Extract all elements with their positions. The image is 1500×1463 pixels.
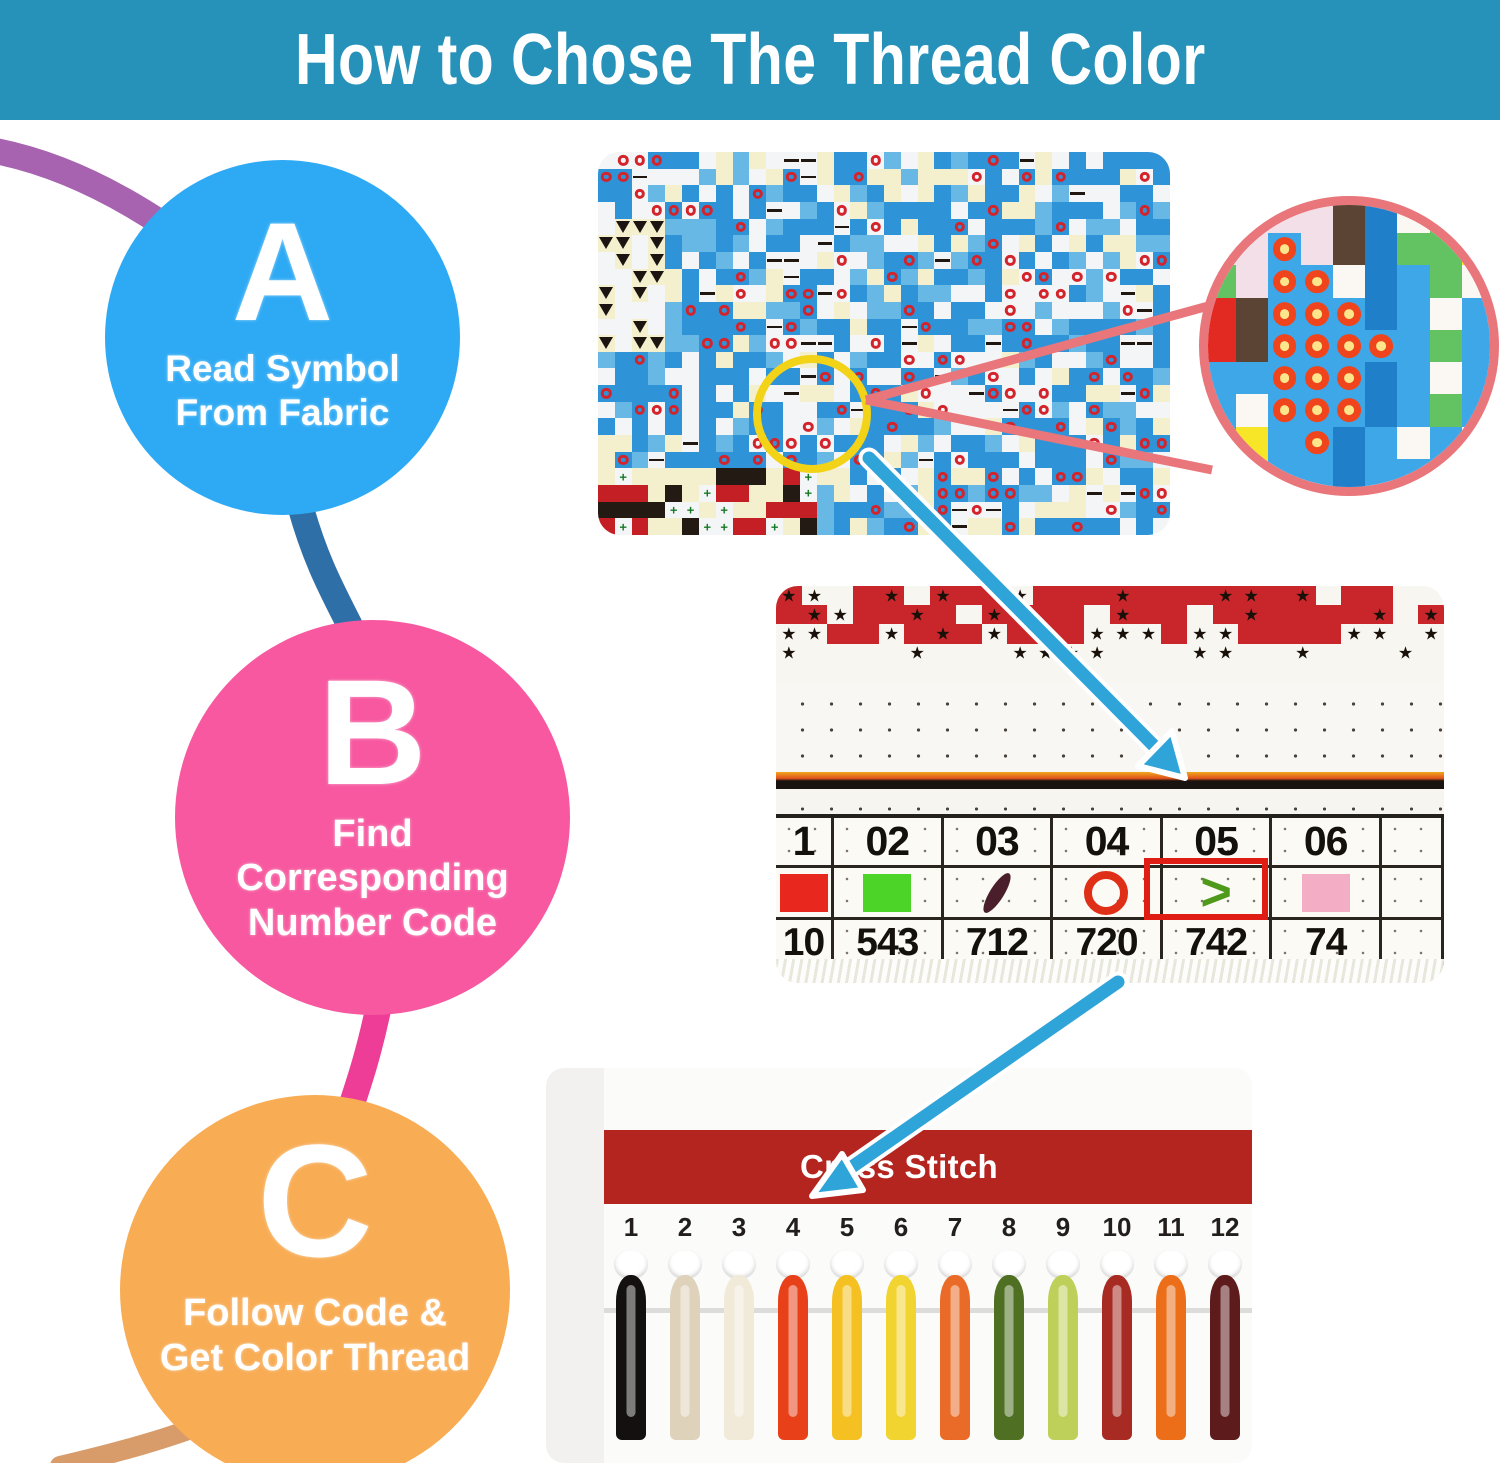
fabric-stitch-cell: [901, 269, 918, 286]
step-caption-c-line1: Follow Code &: [160, 1291, 470, 1336]
fabric-stitch-cell: [985, 169, 1002, 186]
fabric-stitch-cell: [682, 169, 699, 186]
thread-skein: [1210, 1275, 1240, 1440]
magnified-stitch-cell: [1462, 362, 1494, 394]
fabric-stitch-cell: [615, 418, 632, 435]
fabric-stitch-cell: [1120, 235, 1137, 252]
magnified-stitch-cell: [1462, 233, 1494, 265]
thread-column[interactable]: 6: [874, 1210, 928, 1463]
fabric-stitch-cell: [901, 452, 918, 469]
flag-stitch-cell: [1110, 586, 1136, 605]
magnified-stitch-cell: [1397, 394, 1429, 426]
flag-stitch-cell: [853, 644, 879, 663]
fabric-stitch-cell: [1019, 402, 1036, 419]
fabric-stitch-cell: [1153, 185, 1170, 202]
fabric-stitch-cell: [1035, 169, 1052, 186]
thread-skein: [616, 1275, 646, 1440]
fabric-stitch-cell: [1086, 302, 1103, 319]
fabric-stitch-cell: [884, 335, 901, 352]
fabric-stitch-cell: [1120, 402, 1137, 419]
fabric-stitch-cell: [901, 468, 918, 485]
fabric-stitch-cell: [850, 152, 867, 169]
fabric-stitch-cell: [632, 468, 649, 485]
fabric-stitch-cell: [1120, 518, 1137, 535]
fabric-stitch-cell: [934, 269, 951, 286]
fabric-stitch-cell: [884, 468, 901, 485]
thread-skein: [940, 1275, 970, 1440]
fabric-stitch-cell: [783, 185, 800, 202]
fabric-stitch-cell: [1120, 202, 1137, 219]
flag-stitch-cell: [1341, 605, 1367, 624]
magnified-stitch-cell: [1365, 427, 1397, 459]
flag-stitch-cell: [1213, 663, 1239, 682]
fabric-stitch-cell: [884, 235, 901, 252]
fabric-stitch-cell: [834, 269, 851, 286]
fabric-stitch-cell: [716, 502, 733, 519]
magnified-stitch-cell: [1365, 298, 1397, 330]
fabric-stitch-cell: [934, 385, 951, 402]
flag-stitch-cell: [1367, 644, 1393, 663]
fabric-stitch-cell: [716, 302, 733, 319]
fabric-stitch-cell: [783, 219, 800, 236]
fabric-stitch-cell: [951, 235, 968, 252]
fabric-stitch-cell: [665, 352, 682, 369]
fabric-stitch-cell: [716, 352, 733, 369]
fabric-stitch-cell: [766, 235, 783, 252]
flag-stitch-cell: [827, 644, 853, 663]
flag-stitch-cell: [1161, 586, 1187, 605]
fabric-stitch-cell: [749, 152, 766, 169]
magnified-stitch-cell: [1397, 233, 1429, 265]
fabric-stitch-cell: [1153, 518, 1170, 535]
fabric-stitch-cell: [800, 285, 817, 302]
fabric-stitch-cell: [766, 518, 783, 535]
fabric-stitch-cell: [850, 235, 867, 252]
fabric-stitch-cell: [716, 385, 733, 402]
fabric-stitch-cell: [850, 485, 867, 502]
thread-column[interactable]: 12: [1198, 1210, 1252, 1463]
fabric-stitch-cell: [783, 319, 800, 336]
flag-stitch-cell: [1059, 644, 1085, 663]
thread-skein: [1048, 1275, 1078, 1440]
fabric-stitch-cell: [1136, 235, 1153, 252]
fabric-stitch-cell: [1153, 452, 1170, 469]
fabric-stitch-cell: [615, 319, 632, 336]
fabric-stitch-cell: [834, 202, 851, 219]
fabric-stitch-cell: [800, 169, 817, 186]
fabric-stitch-cell: [1035, 502, 1052, 519]
fabric-stitch-cell: [1086, 335, 1103, 352]
fabric-stitch-cell: [1069, 385, 1086, 402]
fabric-stitch-cell: [817, 319, 834, 336]
fabric-stitch-cell: [884, 185, 901, 202]
fabric-stitch-cell: [901, 518, 918, 535]
step-circle-c[interactable]: C Follow Code & Get Color Thread: [120, 1095, 510, 1463]
magnified-stitch-cell: [1430, 233, 1462, 265]
fabric-stitch-cell: [648, 185, 665, 202]
fabric-stitch-cell: [867, 352, 884, 369]
fabric-stitch-cell: [1019, 368, 1036, 385]
flag-stitch-cell: [802, 644, 828, 663]
fabric-stitch-cell: [1002, 518, 1019, 535]
fabric-stitch-cell: [867, 185, 884, 202]
fabric-stitch-cell: [901, 152, 918, 169]
fabric-stitch-cell: [749, 302, 766, 319]
fabric-stitch-cell: [598, 269, 615, 286]
legend-symbol-cell-green-block: [834, 868, 944, 920]
fabric-stitch-cell: [1069, 252, 1086, 269]
thread-column[interactable]: 3: [712, 1210, 766, 1463]
fabric-stitch-cell: [934, 452, 951, 469]
fabric-stitch-cell: [699, 452, 716, 469]
flag-stitch-cell: [853, 586, 879, 605]
chart-dot-field: [776, 682, 1444, 780]
fabric-stitch-cell: [834, 219, 851, 236]
legend-symbol-cell-overflow: [1382, 868, 1444, 920]
fabric-stitch-cell: [1086, 219, 1103, 236]
flag-stitch-cell: [776, 663, 802, 682]
fabric-stitch-cell: [918, 185, 935, 202]
fabric-stitch-cell: [749, 352, 766, 369]
fabric-stitch-cell: [783, 302, 800, 319]
step-circle-b[interactable]: B Find Corresponding Number Code: [175, 620, 570, 1015]
fabric-stitch-cell: [1069, 485, 1086, 502]
fabric-stitch-cell: [800, 502, 817, 519]
fabric-stitch-cell: [1103, 169, 1120, 186]
fabric-stitch-cell: [1052, 285, 1069, 302]
magnified-stitch-cell: [1268, 265, 1300, 297]
fabric-stitch-cell: [800, 202, 817, 219]
fabric-stitch-cell: [766, 202, 783, 219]
fabric-stitch-cell: [1136, 518, 1153, 535]
fabric-stitch-cell: [665, 302, 682, 319]
fabric-stitch-cell: [918, 269, 935, 286]
fabric-stitch-cell: [934, 418, 951, 435]
fabric-stitch-cell: [632, 185, 649, 202]
thread-number: 12: [1211, 1214, 1240, 1240]
fabric-stitch-cell: [918, 468, 935, 485]
fabric-stitch-cell: [766, 169, 783, 186]
thread-column[interactable]: 4: [766, 1210, 820, 1463]
fabric-stitch-cell: [1002, 352, 1019, 369]
fabric-stitch-cell: [901, 285, 918, 302]
flag-stitch-cell: [1161, 605, 1187, 624]
flag-stitch-cell: [930, 624, 956, 643]
step-letter-a: A: [232, 198, 333, 345]
fabric-stitch-cell: [783, 502, 800, 519]
fabric-stitch-cell: [615, 485, 632, 502]
magnified-stitch-cell: [1301, 427, 1333, 459]
flag-stitch-cell: [1007, 624, 1033, 643]
fabric-stitch-cell: [598, 418, 615, 435]
fabric-stitch-cell: [884, 385, 901, 402]
fabric-stitch-cell: [716, 269, 733, 286]
fabric-stitch-cell: [749, 518, 766, 535]
magnified-stitch-cell: [1365, 362, 1397, 394]
fabric-stitch-cell: [1019, 335, 1036, 352]
magnified-stitch-cell: [1301, 362, 1333, 394]
flag-stitch-cell: [1033, 605, 1059, 624]
fabric-stitch-cell: [985, 319, 1002, 336]
flag-stitch-cell: [1084, 605, 1110, 624]
fabric-stitch-cell: [985, 302, 1002, 319]
flag-stitch-cell: [1161, 663, 1187, 682]
fabric-stitch-cell: [699, 518, 716, 535]
fabric-stitch-cell: [699, 252, 716, 269]
fabric-stitch-cell: [648, 202, 665, 219]
fabric-stitch-cell: [934, 219, 951, 236]
thread-column[interactable]: 10: [1090, 1210, 1144, 1463]
fabric-stitch-cell: [699, 235, 716, 252]
fabric-stitch-cell: [1052, 219, 1069, 236]
fabric-stitch-cell: [682, 235, 699, 252]
fabric-stitch-cell: [1120, 269, 1137, 286]
flag-stitch-cell: [879, 663, 905, 682]
flag-stitch-cell: [904, 663, 930, 682]
fabric-stitch-cell: [1019, 502, 1036, 519]
flag-stitch-cell: [1084, 644, 1110, 663]
fabric-stitch-cell: [749, 285, 766, 302]
magnified-stitch-cell: [1236, 362, 1268, 394]
fabric-stitch-cell: [699, 185, 716, 202]
step-caption-b-line3: Number Code: [236, 901, 508, 946]
fabric-stitch-cell: [648, 302, 665, 319]
fabric-stitch-cell: [615, 302, 632, 319]
fabric-stitch-cell: [632, 368, 649, 385]
fabric-stitch-cell: [901, 235, 918, 252]
green-block-icon: [863, 874, 911, 912]
flag-stitch-cell: [930, 644, 956, 663]
fabric-stitch-cell: [1120, 319, 1137, 336]
magnified-stitch-cell: [1397, 298, 1429, 330]
fabric-stitch-cell: [749, 335, 766, 352]
fabric-stitch-cell: [800, 302, 817, 319]
fabric-stitch-cell: [733, 185, 750, 202]
fabric-stitch-cell: [1035, 485, 1052, 502]
magnified-stitch-cell: [1430, 330, 1462, 362]
fabric-stitch-cell: [1086, 185, 1103, 202]
step-circle-a[interactable]: A Read Symbol From Fabric: [105, 160, 460, 515]
fabric-stitch-cell: [1120, 452, 1137, 469]
flag-stitch-cell: [1007, 605, 1033, 624]
fabric-stitch-cell: [968, 485, 985, 502]
fabric-stitch-cell: [615, 169, 632, 186]
fabric-stitch-cell: [918, 368, 935, 385]
fabric-stitch-cell: [850, 285, 867, 302]
fabric-stitch-cell: [901, 219, 918, 236]
fabric-stitch-cell: [1120, 335, 1137, 352]
flag-stitch-cell: [1110, 605, 1136, 624]
fabric-stitch-cell: [699, 385, 716, 402]
fabric-stitch-cell: [884, 352, 901, 369]
fabric-stitch-cell: [1019, 169, 1036, 186]
thread-column[interactable]: 2: [658, 1210, 712, 1463]
fabric-stitch-cell: [648, 435, 665, 452]
fabric-stitch-cell: [1052, 185, 1069, 202]
fabric-stitch-cell: [749, 252, 766, 269]
fabric-stitch-cell: [1086, 468, 1103, 485]
fabric-stitch-cell: [1136, 385, 1153, 402]
thread-number: 10: [1103, 1214, 1132, 1240]
magnified-stitch-cell: [1236, 265, 1268, 297]
fabric-stitch-cell: [850, 319, 867, 336]
fabric-stitch-cell: [1069, 285, 1086, 302]
fabric-stitch-cell: [1136, 352, 1153, 369]
fabric-stitch-cell: [834, 235, 851, 252]
magnified-stitch-cell: [1268, 394, 1300, 426]
thread-card: Cross Stitch 123456789101112: [604, 1068, 1252, 1463]
fabric-stitch-cell: [1136, 485, 1153, 502]
fabric-stitch-cell: [1103, 202, 1120, 219]
flag-stitch-cell: [1059, 624, 1085, 643]
magnified-stitch-cell: [1204, 298, 1236, 330]
fabric-stitch-cell: [901, 335, 918, 352]
flag-stitch-cell: [879, 586, 905, 605]
fabric-stitch-cell: [800, 235, 817, 252]
step-caption-b-line1: Find: [236, 812, 508, 857]
magnified-stitch-cell: [1333, 427, 1365, 459]
fabric-stitch-cell: [1103, 402, 1120, 419]
fabric-stitch-cell: [699, 202, 716, 219]
fabric-stitch-cell: [884, 285, 901, 302]
legend-number-cell: 02: [834, 818, 944, 868]
fabric-stitch-cell: [733, 269, 750, 286]
fabric-stitch-cell: [1019, 468, 1036, 485]
thread-skein: [832, 1275, 862, 1440]
fabric-stitch-cell: [632, 169, 649, 186]
page-title: How to Chose The Thread Color: [295, 24, 1206, 96]
fabric-stitch-cell: [733, 485, 750, 502]
fabric-stitch-cell: [648, 285, 665, 302]
fabric-stitch-cell: [699, 335, 716, 352]
fabric-stitch-cell: [1103, 418, 1120, 435]
fabric-stitch-cell: [985, 485, 1002, 502]
fabric-stitch-cell: [682, 269, 699, 286]
fabric-stitch-cell: [598, 169, 615, 186]
fabric-stitch-cell: [834, 335, 851, 352]
thread-column[interactable]: 5: [820, 1210, 874, 1463]
fabric-stitch-cell: [682, 385, 699, 402]
flag-stitch-cell: [802, 663, 828, 682]
fabric-stitch-cell: [918, 302, 935, 319]
fabric-stitch-cell: [749, 502, 766, 519]
flag-stitch-cell: [1213, 605, 1239, 624]
fabric-stitch-cell: [1103, 185, 1120, 202]
fabric-stitch-cell: [632, 219, 649, 236]
fabric-stitch-cell: [918, 235, 935, 252]
flag-stitch-cell: [776, 605, 802, 624]
fabric-stitch-cell: [1052, 302, 1069, 319]
magnified-stitch-cell: [1268, 201, 1300, 233]
fabric-stitch-cell: [1035, 335, 1052, 352]
fabric-stitch-cell: [867, 152, 884, 169]
fabric-stitch-cell: [615, 202, 632, 219]
flag-stitch-cell: [853, 605, 879, 624]
fabric-stitch-cell: [1103, 285, 1120, 302]
fabric-stitch-cell: [766, 152, 783, 169]
fabric-stitch-cell: [1086, 202, 1103, 219]
thread-number: 2: [678, 1214, 692, 1240]
fabric-stitch-cell: [968, 385, 985, 402]
thread-number: 1: [624, 1214, 638, 1240]
thread-column[interactable]: 7: [928, 1210, 982, 1463]
fabric-stitch-cell: [648, 269, 665, 286]
fabric-stitch-cell: [1069, 468, 1086, 485]
fabric-stitch-cell: [749, 485, 766, 502]
fabric-stitch-cell: [766, 335, 783, 352]
fabric-stitch-cell: [951, 269, 968, 286]
fabric-stitch-cell: [1086, 368, 1103, 385]
fabric-stitch-cell: [1052, 402, 1069, 419]
magnified-fabric-detail: [1204, 201, 1494, 491]
fabric-stitch-cell: [1035, 285, 1052, 302]
thread-column[interactable]: 9: [1036, 1210, 1090, 1463]
fabric-stitch-cell: [951, 502, 968, 519]
fabric-stitch-cell: [1153, 285, 1170, 302]
fabric-stitch-cell: [648, 452, 665, 469]
magnified-stitch-cell: [1333, 459, 1365, 491]
fabric-stitch-cell: [733, 202, 750, 219]
fabric-stitch-cell: [1019, 269, 1036, 286]
fabric-stitch-cell: [632, 269, 649, 286]
fabric-stitch-cell: [665, 185, 682, 202]
fabric-stitch-cell: [968, 518, 985, 535]
flag-stitch-cell: [904, 605, 930, 624]
fabric-stitch-cell: [918, 402, 935, 419]
fabric-stitch-cell: [1069, 152, 1086, 169]
fabric-stitch-cell: [884, 502, 901, 519]
magnified-stitch-cell: [1462, 298, 1494, 330]
fabric-stitch-cell: [682, 152, 699, 169]
magnified-stitch-cell: [1462, 201, 1494, 233]
fabric-stitch-cell: [1103, 352, 1120, 369]
fabric-stitch-cell: [1019, 385, 1036, 402]
fabric-stitch-cell: [665, 252, 682, 269]
fabric-stitch-cell: [1086, 418, 1103, 435]
fabric-stitch-cell: [749, 219, 766, 236]
legend-number-cell: 06: [1272, 818, 1382, 868]
fabric-stitch-cell: [1019, 485, 1036, 502]
flag-stitch-cell: [956, 644, 982, 663]
fabric-stitch-cell: [665, 319, 682, 336]
thread-column[interactable]: 1: [604, 1210, 658, 1463]
fabric-stitch-cell: [1153, 202, 1170, 219]
fabric-stitch-cell: [817, 269, 834, 286]
fabric-stitch-cell: [648, 385, 665, 402]
fabric-stitch-cell: [1120, 169, 1137, 186]
fabric-stitch-cell: [1069, 502, 1086, 519]
fabric-stitch-cell: [1002, 185, 1019, 202]
fabric-stitch-cell: [951, 435, 968, 452]
thread-column[interactable]: 11: [1144, 1210, 1198, 1463]
flag-stitch-cell: [1059, 605, 1085, 624]
flag-stitch-cell: [956, 624, 982, 643]
fabric-stitch-cell: [934, 502, 951, 519]
fabric-stitch-cell: [1103, 152, 1120, 169]
fabric-stitch-cell: [834, 169, 851, 186]
magnified-stitch-cell: [1365, 394, 1397, 426]
fabric-stitch-cell: [716, 452, 733, 469]
flag-stitch-cell: [1084, 663, 1110, 682]
fabric-highlight-ring-icon: [753, 355, 871, 473]
fabric-stitch-cell: [867, 169, 884, 186]
fabric-stitch-cell: [968, 202, 985, 219]
fabric-stitch-cell: [1069, 185, 1086, 202]
thread-column[interactable]: 8: [982, 1210, 1036, 1463]
fabric-stitch-cell: [699, 485, 716, 502]
fabric-stitch-cell: [934, 319, 951, 336]
fabric-stitch-cell: [834, 185, 851, 202]
